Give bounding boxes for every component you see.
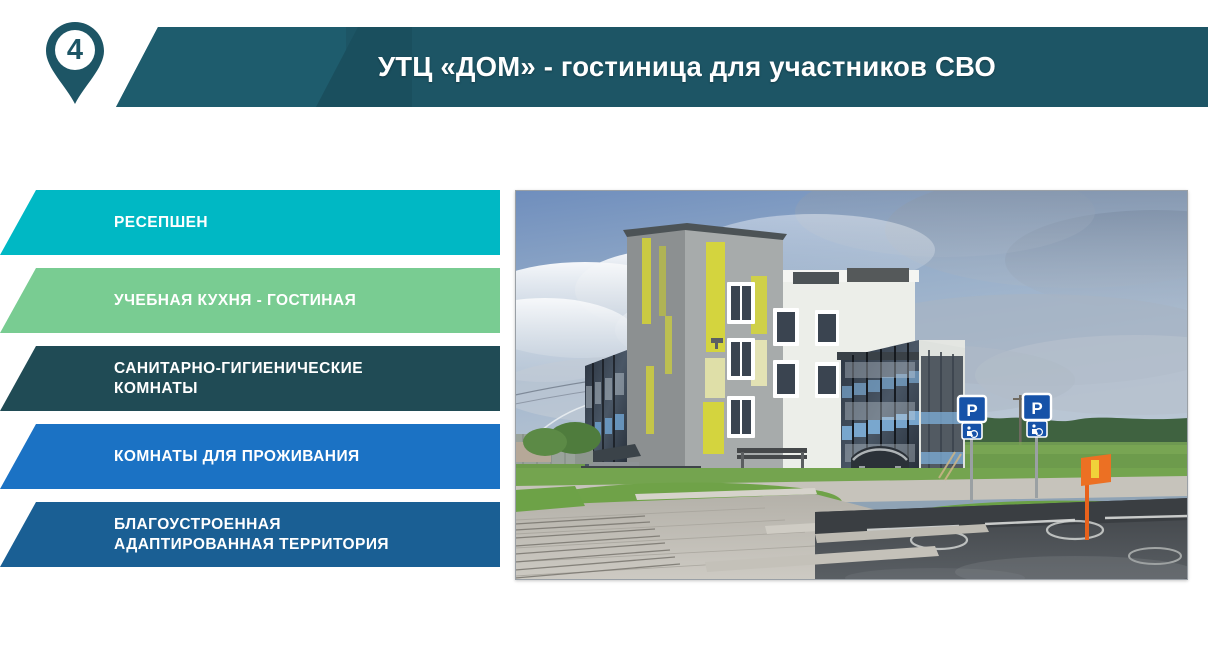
banner-training-kitchen[interactable]: УЧЕБНАЯ КУХНЯ - ГОСТИНАЯ bbox=[0, 268, 500, 333]
banner-label: САНИТАРНО-ГИГИЕНИЧЕСКИЕ КОМНАТЫ bbox=[114, 346, 484, 411]
svg-text:P: P bbox=[1031, 399, 1042, 418]
banner-reception[interactable]: РЕСЕПШЕН bbox=[0, 190, 500, 255]
banner-label: КОМНАТЫ ДЛЯ ПРОЖИВАНИЯ bbox=[114, 424, 484, 489]
hotel-building-illustration: P P bbox=[515, 190, 1188, 580]
banner-label: УЧЕБНАЯ КУХНЯ - ГОСТИНАЯ bbox=[114, 268, 484, 333]
banner-label: БЛАГОУСТРОЕННАЯ АДАПТИРОВАННАЯ ТЕРРИТОРИ… bbox=[114, 502, 484, 567]
banner-accessible-grounds[interactable]: БЛАГОУСТРОЕННАЯ АДАПТИРОВАННАЯ ТЕРРИТОРИ… bbox=[0, 502, 500, 567]
slide-header-band: УТЦ «ДОМ» - гостиница для участников СВО bbox=[116, 27, 1208, 107]
banner-sanitary-rooms[interactable]: САНИТАРНО-ГИГИЕНИЧЕСКИЕ КОМНАТЫ bbox=[0, 346, 500, 411]
banner-living-rooms[interactable]: КОМНАТЫ ДЛЯ ПРОЖИВАНИЯ bbox=[0, 424, 500, 489]
hotel-building-photo: P P bbox=[515, 190, 1188, 580]
banner-label: РЕСЕПШЕН bbox=[114, 190, 484, 255]
feature-banner-list: РЕСЕПШЕН УЧЕБНАЯ КУХНЯ - ГОСТИНАЯ САНИТА… bbox=[0, 190, 500, 580]
svg-text:P: P bbox=[966, 401, 977, 420]
slide-number-pin: 4 bbox=[44, 20, 106, 106]
page-title: УТЦ «ДОМ» - гостиница для участников СВО bbox=[296, 27, 1078, 107]
slide-number-text: 4 bbox=[44, 33, 106, 67]
